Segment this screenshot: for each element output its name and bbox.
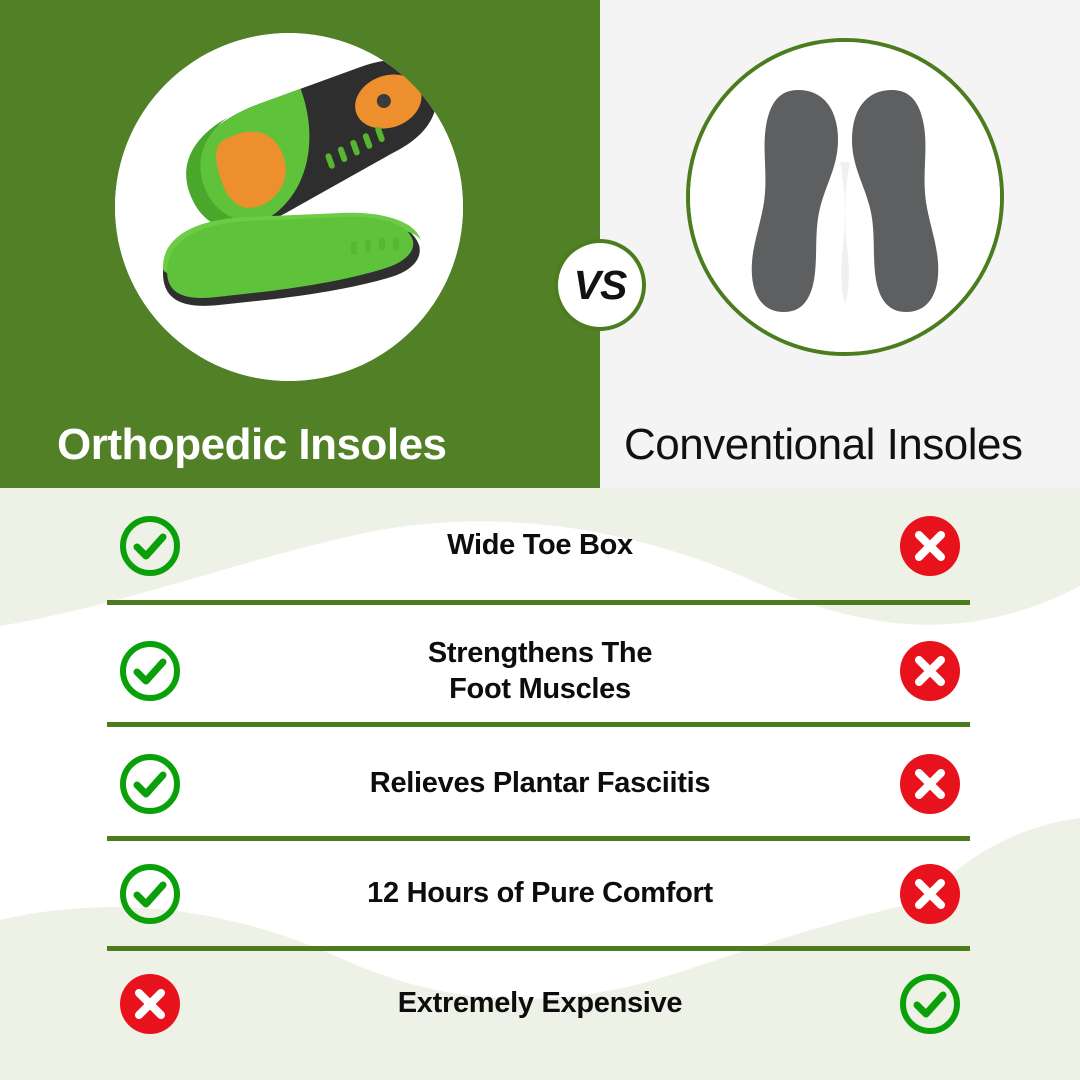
right-cross-icon	[780, 514, 1080, 578]
table-row: 12 Hours of Pure Comfort	[0, 846, 1080, 941]
right-column-title: Conventional Insoles	[624, 414, 1022, 476]
row-divider	[107, 722, 970, 727]
right-cross-icon	[780, 639, 1080, 703]
left-check-icon	[0, 752, 300, 816]
vs-label: VS	[574, 262, 627, 309]
feature-label: Wide Toe Box	[300, 527, 780, 563]
left-check-icon	[0, 639, 300, 703]
vs-badge: VS	[554, 239, 646, 331]
left-column-title: Orthopedic Insoles	[57, 414, 447, 476]
row-divider	[107, 600, 970, 605]
right-cross-icon	[780, 752, 1080, 816]
right-check-icon	[780, 972, 1080, 1036]
left-check-icon	[0, 514, 300, 578]
feature-label: Strengthens TheFoot Muscles	[300, 635, 780, 708]
feature-label: 12 Hours of Pure Comfort	[300, 875, 780, 911]
row-divider	[107, 946, 970, 951]
row-divider	[107, 836, 970, 841]
table-row: Wide Toe Box	[0, 498, 1080, 593]
feature-label: Relieves Plantar Fasciitis	[300, 765, 780, 801]
table-row: Extremely Expensive	[0, 956, 1080, 1051]
table-row: Relieves Plantar Fasciitis	[0, 736, 1080, 831]
right-cross-icon	[780, 862, 1080, 926]
table-row: Strengthens TheFoot Muscles	[0, 610, 1080, 732]
feature-label: Extremely Expensive	[300, 985, 780, 1021]
comparison-header: VS Orthopedic Insoles Conventional Insol…	[0, 0, 1080, 488]
left-check-icon	[0, 862, 300, 926]
feature-comparison-table: Wide Toe BoxStrengthens TheFoot MusclesR…	[0, 488, 1080, 1080]
conventional-insoles-photo	[686, 38, 1004, 356]
orthopedic-insoles-photo	[115, 33, 463, 381]
left-cross-icon	[0, 972, 300, 1036]
feature-rows: Wide Toe BoxStrengthens TheFoot MusclesR…	[0, 488, 1080, 1080]
